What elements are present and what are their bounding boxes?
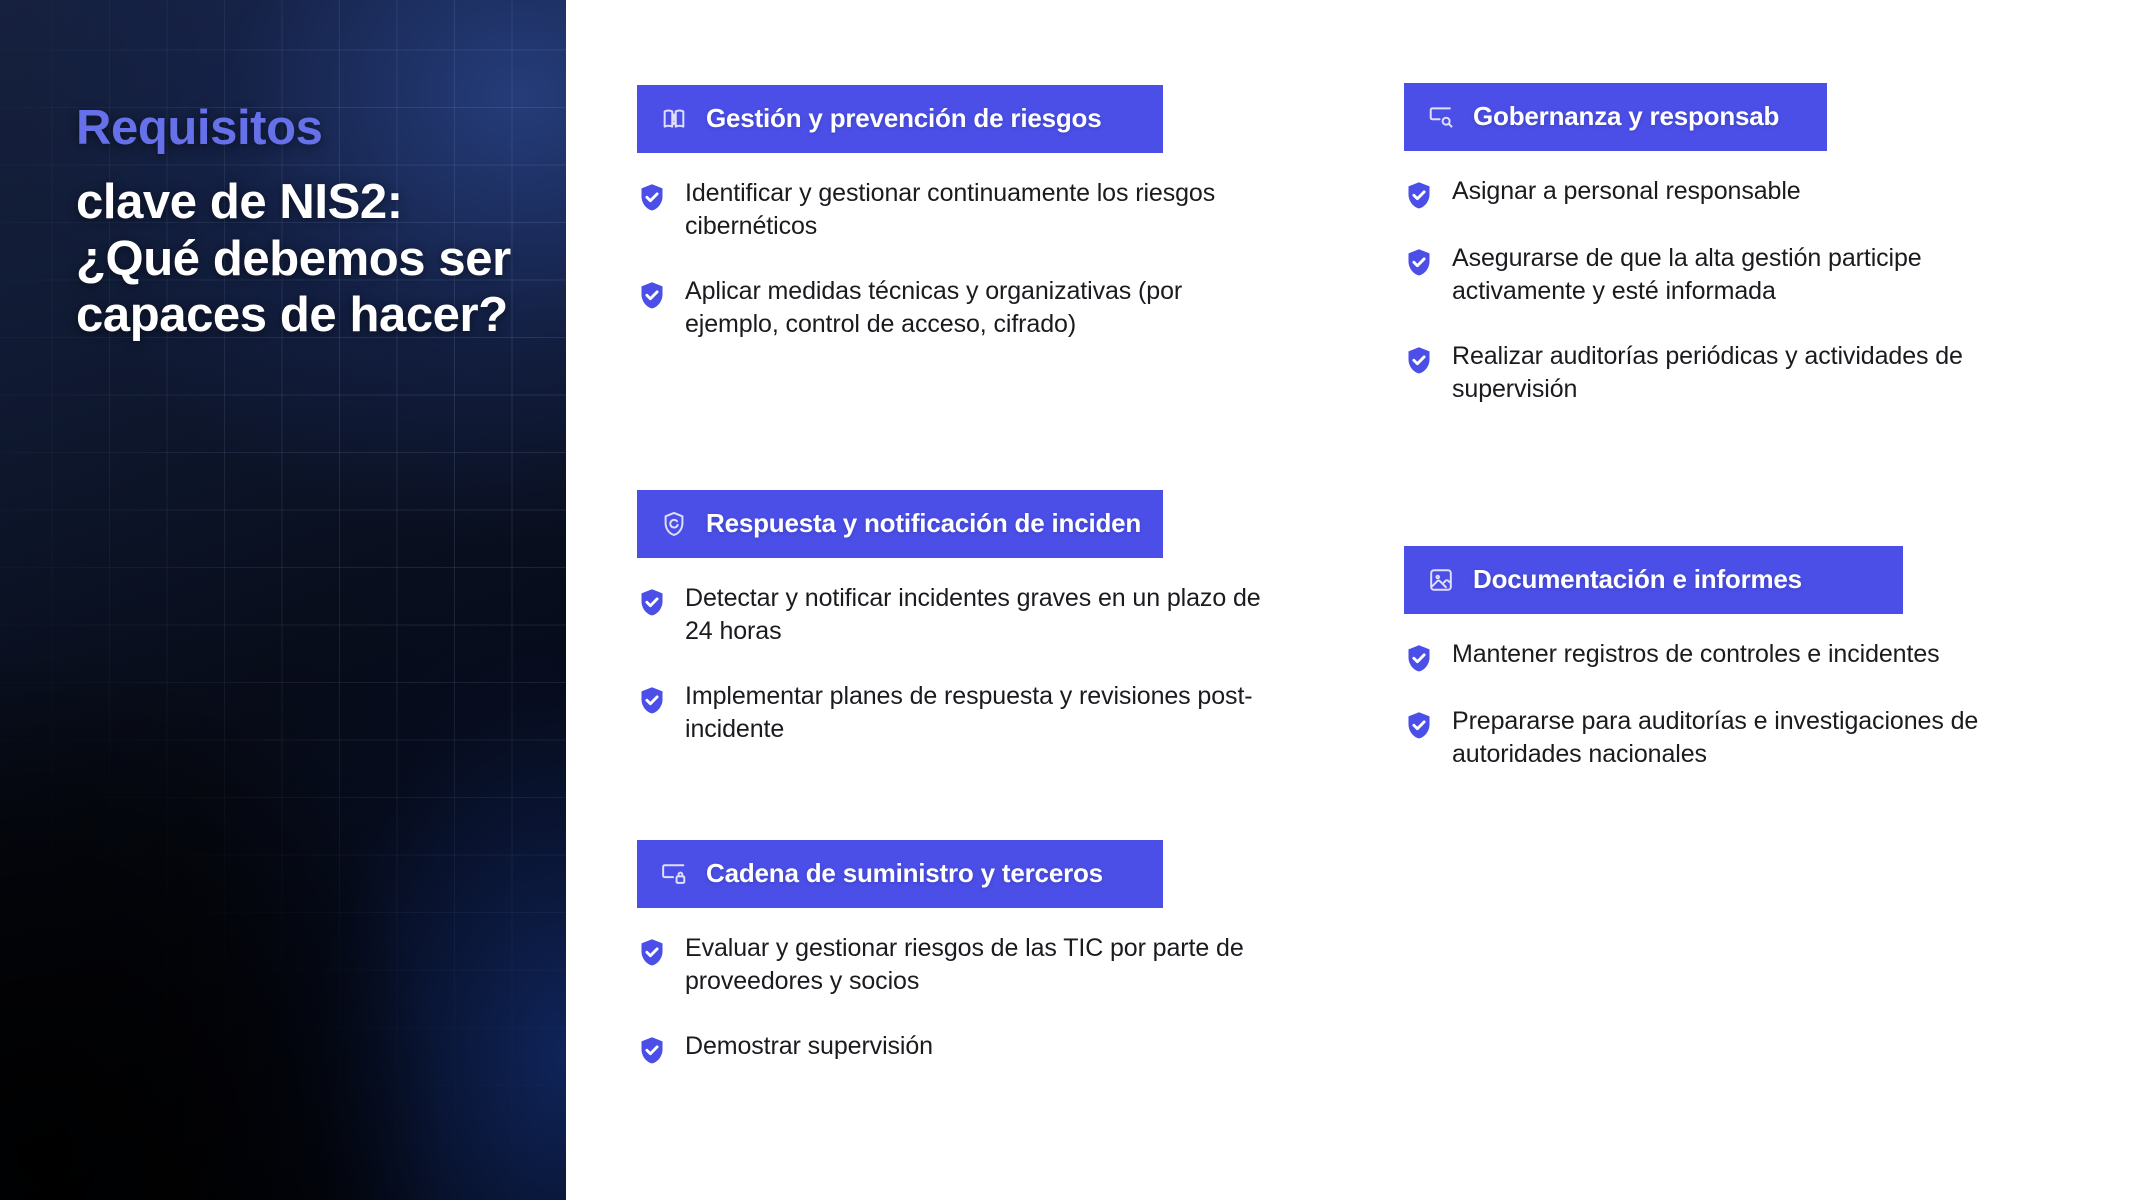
list-item: Prepararse para auditorías e investigaci… [1404,705,2044,772]
list-item: Realizar auditorías periódicas y activid… [1404,340,2044,407]
monitor-lock-icon [659,859,689,889]
list-item: Identificar y gestionar continuamente lo… [637,177,1277,244]
monitor-search-icon [1426,102,1456,132]
list-item-label: Evaluar y gestionar riesgos de las TIC p… [685,932,1277,999]
shield-check-icon [1404,345,1434,375]
left-title-panel: Requisitos clave de NIS2: ¿Qué debemos s… [0,0,566,1200]
shield-check-icon [637,182,667,212]
shield-check-icon [1404,180,1434,210]
card-header-respuesta[interactable]: Respuesta y notificación de inciden [637,490,1163,558]
list-item: Mantener registros de controles e incide… [1404,638,2044,673]
list-item: Implementar planes de respuesta y revisi… [637,680,1277,747]
card-cadena: Cadena de suministro y terceros Evaluar … [637,840,1163,1065]
shield-alert-icon [659,509,689,539]
card-header-documentacion[interactable]: Documentación e informes [1404,546,1903,614]
list-item: Detectar y notificar incidentes graves e… [637,582,1277,649]
list-item: Asignar a personal responsable [1404,175,2044,210]
card-header-gestion[interactable]: Gestión y prevención de riesgos [637,85,1163,153]
card-header-gobernanza[interactable]: Gobernanza y responsab [1404,83,1827,151]
card-header-label: Cadena de suministro y terceros [706,858,1103,890]
list-item: Evaluar y gestionar riesgos de las TIC p… [637,932,1277,999]
list-item: Asegurarse de que la alta gestión partic… [1404,242,2044,309]
card-header-cadena[interactable]: Cadena de suministro y terceros [637,840,1163,908]
list-item: Demostrar supervisión [637,1030,1277,1065]
bullet-list-gestion: Identificar y gestionar continuamente lo… [637,177,1277,342]
list-item: Aplicar medidas técnicas y organizativas… [637,275,1277,342]
card-header-label: Gobernanza y responsab [1473,101,1779,133]
slide-root: Requisitos clave de NIS2: ¿Qué debemos s… [0,0,2133,1200]
shield-check-icon [1404,710,1434,740]
shield-check-icon [637,280,667,310]
page-title-rest: clave de NIS2: ¿Qué debemos ser capaces … [76,174,532,343]
shield-check-icon [1404,643,1434,673]
card-gobernanza: Gobernanza y responsab Asignar a persona… [1404,83,1827,407]
shield-check-icon [637,937,667,967]
bullet-list-documentacion: Mantener registros de controles e incide… [1404,638,2044,772]
shield-check-icon [637,587,667,617]
bullet-list-cadena: Evaluar y gestionar riesgos de las TIC p… [637,932,1277,1066]
list-item-label: Identificar y gestionar continuamente lo… [685,177,1277,244]
card-gestion: Gestión y prevención de riesgos Identifi… [637,85,1163,342]
shield-check-icon [637,1035,667,1065]
document-icon [1426,565,1456,595]
shield-check-icon [637,685,667,715]
bullet-list-gobernanza: Asignar a personal responsable Asegurars… [1404,175,2044,407]
card-header-label: Documentación e informes [1473,564,1802,596]
list-item-label: Detectar y notificar incidentes graves e… [685,582,1277,649]
list-item-label: Asignar a personal responsable [1452,175,1801,208]
list-item-label: Mantener registros de controles e incide… [1452,638,1940,671]
bullet-list-respuesta: Detectar y notificar incidentes graves e… [637,582,1277,747]
list-item-label: Realizar auditorías periódicas y activid… [1452,340,2044,407]
list-item-label: Prepararse para auditorías e investigaci… [1452,705,2044,772]
shield-check-icon [1404,247,1434,277]
list-item-label: Implementar planes de respuesta y revisi… [685,680,1277,747]
card-header-label: Gestión y prevención de riesgos [706,103,1101,135]
list-item-label: Asegurarse de que la alta gestión partic… [1452,242,2044,309]
book-alert-icon [659,104,689,134]
card-header-label: Respuesta y notificación de inciden [706,508,1141,540]
list-item-label: Aplicar medidas técnicas y organizativas… [685,275,1277,342]
card-documentacion: Documentación e informes Mantener regist… [1404,546,1903,771]
list-item-label: Demostrar supervisión [685,1030,933,1063]
card-respuesta: Respuesta y notificación de inciden Dete… [637,490,1163,747]
page-title: Requisitos clave de NIS2: ¿Qué debemos s… [76,100,532,343]
page-title-accent: Requisitos [76,100,532,156]
